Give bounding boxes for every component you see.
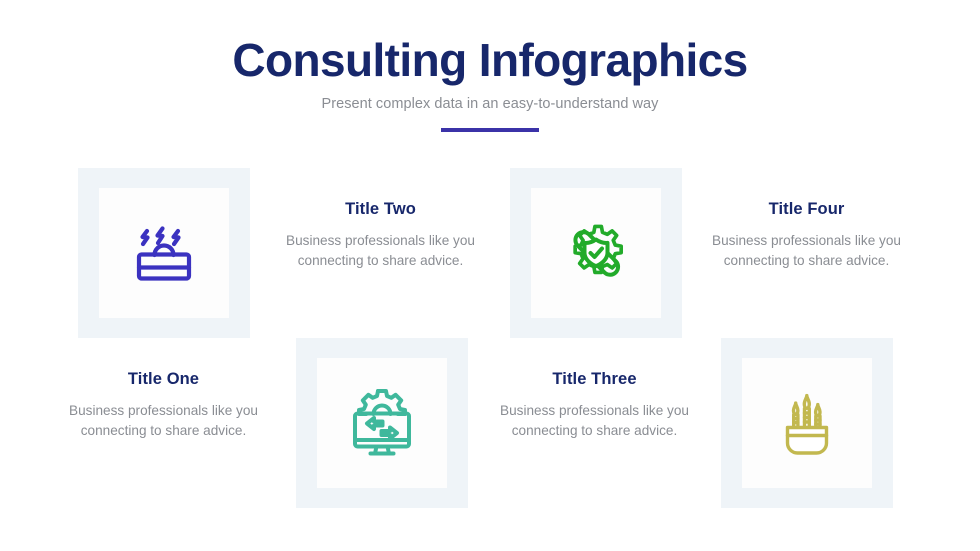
item-title: Title Four [699, 200, 914, 220]
slide-header: Consulting Infographics Present complex … [0, 36, 980, 132]
text-block: Title One Business professionals like yo… [56, 338, 271, 441]
item-three-text-block: Title Three Business professionals like … [487, 338, 702, 508]
icon-frame [531, 188, 661, 318]
item-four-text-block: Title Four Business professionals like y… [699, 168, 914, 338]
item-one-icon-card[interactable] [78, 168, 250, 338]
text-block: Title Two Business professionals like yo… [273, 168, 488, 271]
icon-card [296, 338, 468, 508]
item-two-icon-card[interactable] [296, 338, 468, 508]
item-two-text-block: Title Two Business professionals like yo… [273, 168, 488, 338]
item-three-icon-card[interactable] [510, 168, 682, 338]
item-four-icon-card[interactable] [721, 338, 893, 508]
monitor-gear-sync-icon [342, 383, 422, 463]
title-divider [441, 128, 539, 132]
page-subtitle: Present complex data in an easy-to-under… [0, 95, 980, 114]
pens-cup-icon [769, 383, 845, 463]
icon-frame [742, 358, 872, 488]
icon-card [78, 168, 250, 338]
gear-shield-check-icon [558, 215, 634, 291]
item-description: Business professionals like you connecti… [487, 401, 702, 441]
infographic-slide: Consulting Infographics Present complex … [0, 0, 980, 551]
item-description: Business professionals like you connecti… [56, 401, 271, 441]
item-title: Title One [56, 370, 271, 390]
page-title: Consulting Infographics [0, 36, 980, 86]
item-one-text-block: Title One Business professionals like yo… [56, 338, 271, 508]
icon-card [510, 168, 682, 338]
text-block: Title Three Business professionals like … [487, 338, 702, 441]
icon-card [721, 338, 893, 508]
icon-frame [99, 188, 229, 318]
infographic-row-top: Title Two Business professionals like yo… [0, 168, 980, 338]
infographic-row-bottom: Title One Business professionals like yo… [0, 338, 980, 508]
icon-frame [317, 358, 447, 488]
item-title: Title Two [273, 200, 488, 220]
item-description: Business professionals like you connecti… [273, 231, 488, 271]
briefcase-lightning-icon [126, 215, 202, 291]
item-title: Title Three [487, 370, 702, 390]
item-description: Business professionals like you connecti… [699, 231, 914, 271]
text-block: Title Four Business professionals like y… [699, 168, 914, 271]
